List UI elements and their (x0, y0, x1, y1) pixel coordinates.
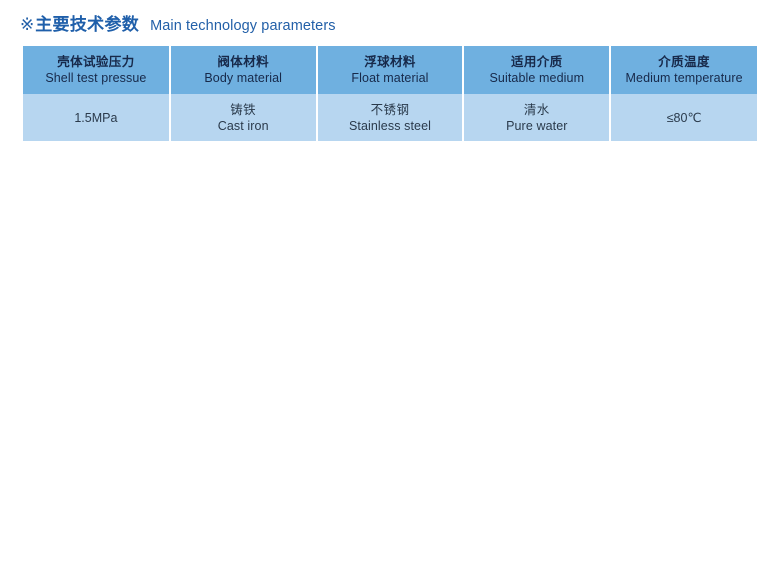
section-title-chinese: 主要技术参数 (35, 15, 139, 35)
header-cell-content: 壳体试验压力 Shell test pressue (23, 54, 169, 86)
table-header-cell-float-material: 浮球材料 Float material (317, 46, 464, 94)
section-title: ※ 主要技术参数 Main technology parameters (20, 15, 336, 36)
cell-value-cn: 不锈钢 (371, 102, 410, 118)
header-label-en: Medium temperature (626, 70, 743, 86)
cell-value: 1.5MPa (74, 110, 117, 126)
header-label-en: Shell test pressue (45, 70, 146, 86)
header-label-cn: 适用介质 (511, 54, 563, 70)
header-label-cn: 壳体试验压力 (57, 54, 134, 70)
cell-value: ≤80℃ (667, 110, 702, 126)
header-label-en: Body material (204, 70, 282, 86)
table-row: 1.5MPa 铸铁 Cast iron 不锈钢 Stainless steel (23, 94, 757, 141)
section-title-english: Main technology parameters (150, 16, 336, 36)
reference-mark-icon: ※ (20, 15, 34, 35)
cell-content: ≤80℃ (611, 110, 757, 126)
table-header-cell-medium-temperature: 介质温度 Medium temperature (610, 46, 757, 94)
table-header-cell-shell-test-pressure: 壳体试验压力 Shell test pressue (23, 46, 170, 94)
cell-content: 1.5MPa (23, 110, 169, 126)
header-label-en: Suitable medium (489, 70, 584, 86)
header-label-cn: 浮球材料 (364, 54, 416, 70)
header-cell-content: 介质温度 Medium temperature (611, 54, 757, 86)
header-cell-content: 浮球材料 Float material (318, 54, 463, 86)
cell-value-en: Stainless steel (349, 118, 431, 134)
page-root: ※ 主要技术参数 Main technology parameters 壳体试验… (0, 0, 778, 588)
cell-value-cn: 清水 (524, 102, 550, 118)
cell-value-en: Pure water (506, 118, 567, 134)
header-cell-content: 适用介质 Suitable medium (464, 54, 609, 86)
table-header-cell-body-material: 阀体材料 Body material (170, 46, 317, 94)
table-cell-medium-temperature: ≤80℃ (610, 94, 757, 141)
table-cell-body-material: 铸铁 Cast iron (170, 94, 317, 141)
cell-content: 清水 Pure water (464, 102, 609, 134)
table-cell-suitable-medium: 清水 Pure water (463, 94, 610, 141)
header-label-en: Float material (351, 70, 428, 86)
header-label-cn: 介质温度 (658, 54, 710, 70)
table-cell-shell-test-pressure: 1.5MPa (23, 94, 170, 141)
main-technology-parameters-table: 壳体试验压力 Shell test pressue 阀体材料 Body mate… (23, 46, 757, 141)
cell-content: 不锈钢 Stainless steel (318, 102, 463, 134)
header-label-cn: 阀体材料 (217, 54, 269, 70)
table-cell-float-material: 不锈钢 Stainless steel (317, 94, 464, 141)
cell-value-en: Cast iron (218, 118, 269, 134)
header-cell-content: 阀体材料 Body material (171, 54, 316, 86)
table-header-cell-suitable-medium: 适用介质 Suitable medium (463, 46, 610, 94)
cell-value-cn: 铸铁 (230, 102, 256, 118)
table-header-row: 壳体试验压力 Shell test pressue 阀体材料 Body mate… (23, 46, 757, 94)
cell-content: 铸铁 Cast iron (171, 102, 316, 134)
